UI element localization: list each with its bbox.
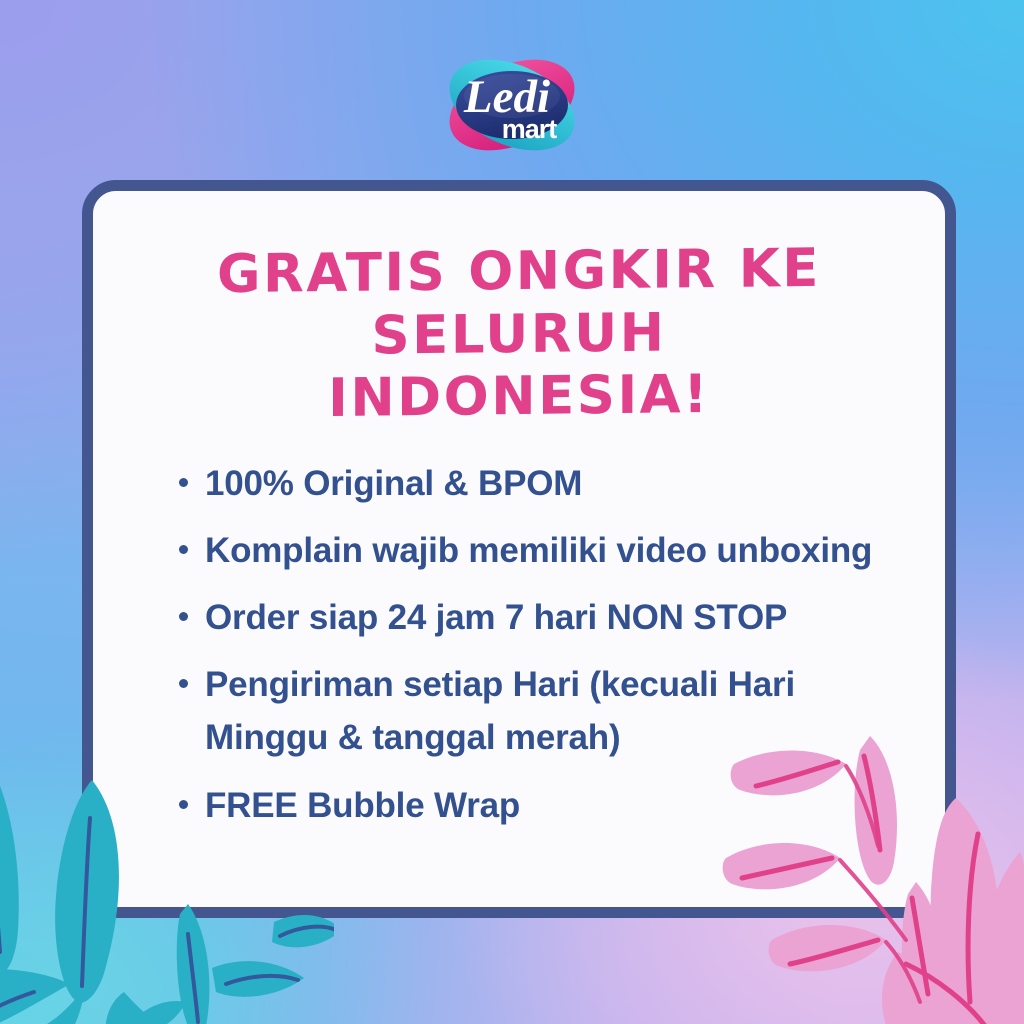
logo-word-secondary: mart [502,114,558,144]
list-item-label: Order siap 24 jam 7 hari NON STOP [205,598,787,637]
list-item: 100% Original & BPOM [179,457,905,510]
benefits-list: 100% Original & BPOM Komplain wajib memi… [127,457,911,832]
info-card: GRATIS ONGKIR KE SELURUH INDONESIA! 100%… [82,180,956,918]
list-item: Komplain wajib memiliki video unboxing [179,524,905,577]
list-item-label: Komplain wajib memiliki video unboxing [205,531,872,570]
list-item-label: 100% Original & BPOM [205,464,582,503]
page-title: GRATIS ONGKIR KE SELURUH INDONESIA! [127,237,911,433]
info-card-content: GRATIS ONGKIR KE SELURUH INDONESIA! 100%… [93,191,945,907]
list-item: FREE Bubble Wrap [179,779,905,832]
headline-line-2: INDONESIA! [127,362,911,433]
list-item: Order siap 24 jam 7 hari NON STOP [179,591,905,644]
list-item-label: FREE Bubble Wrap [205,786,520,825]
ledi-mart-logo: Ledi mart [419,46,605,164]
list-item-label: Pengiriman setiap Hari (kecuali Hari Min… [205,665,795,757]
headline-line-1: GRATIS ONGKIR KE SELURUH [217,238,821,366]
promo-poster: Ledi mart GRATIS ONGKIR KE SELURUH INDON… [0,0,1024,1024]
list-item: Pengiriman setiap Hari (kecuali Hari Min… [179,658,905,764]
